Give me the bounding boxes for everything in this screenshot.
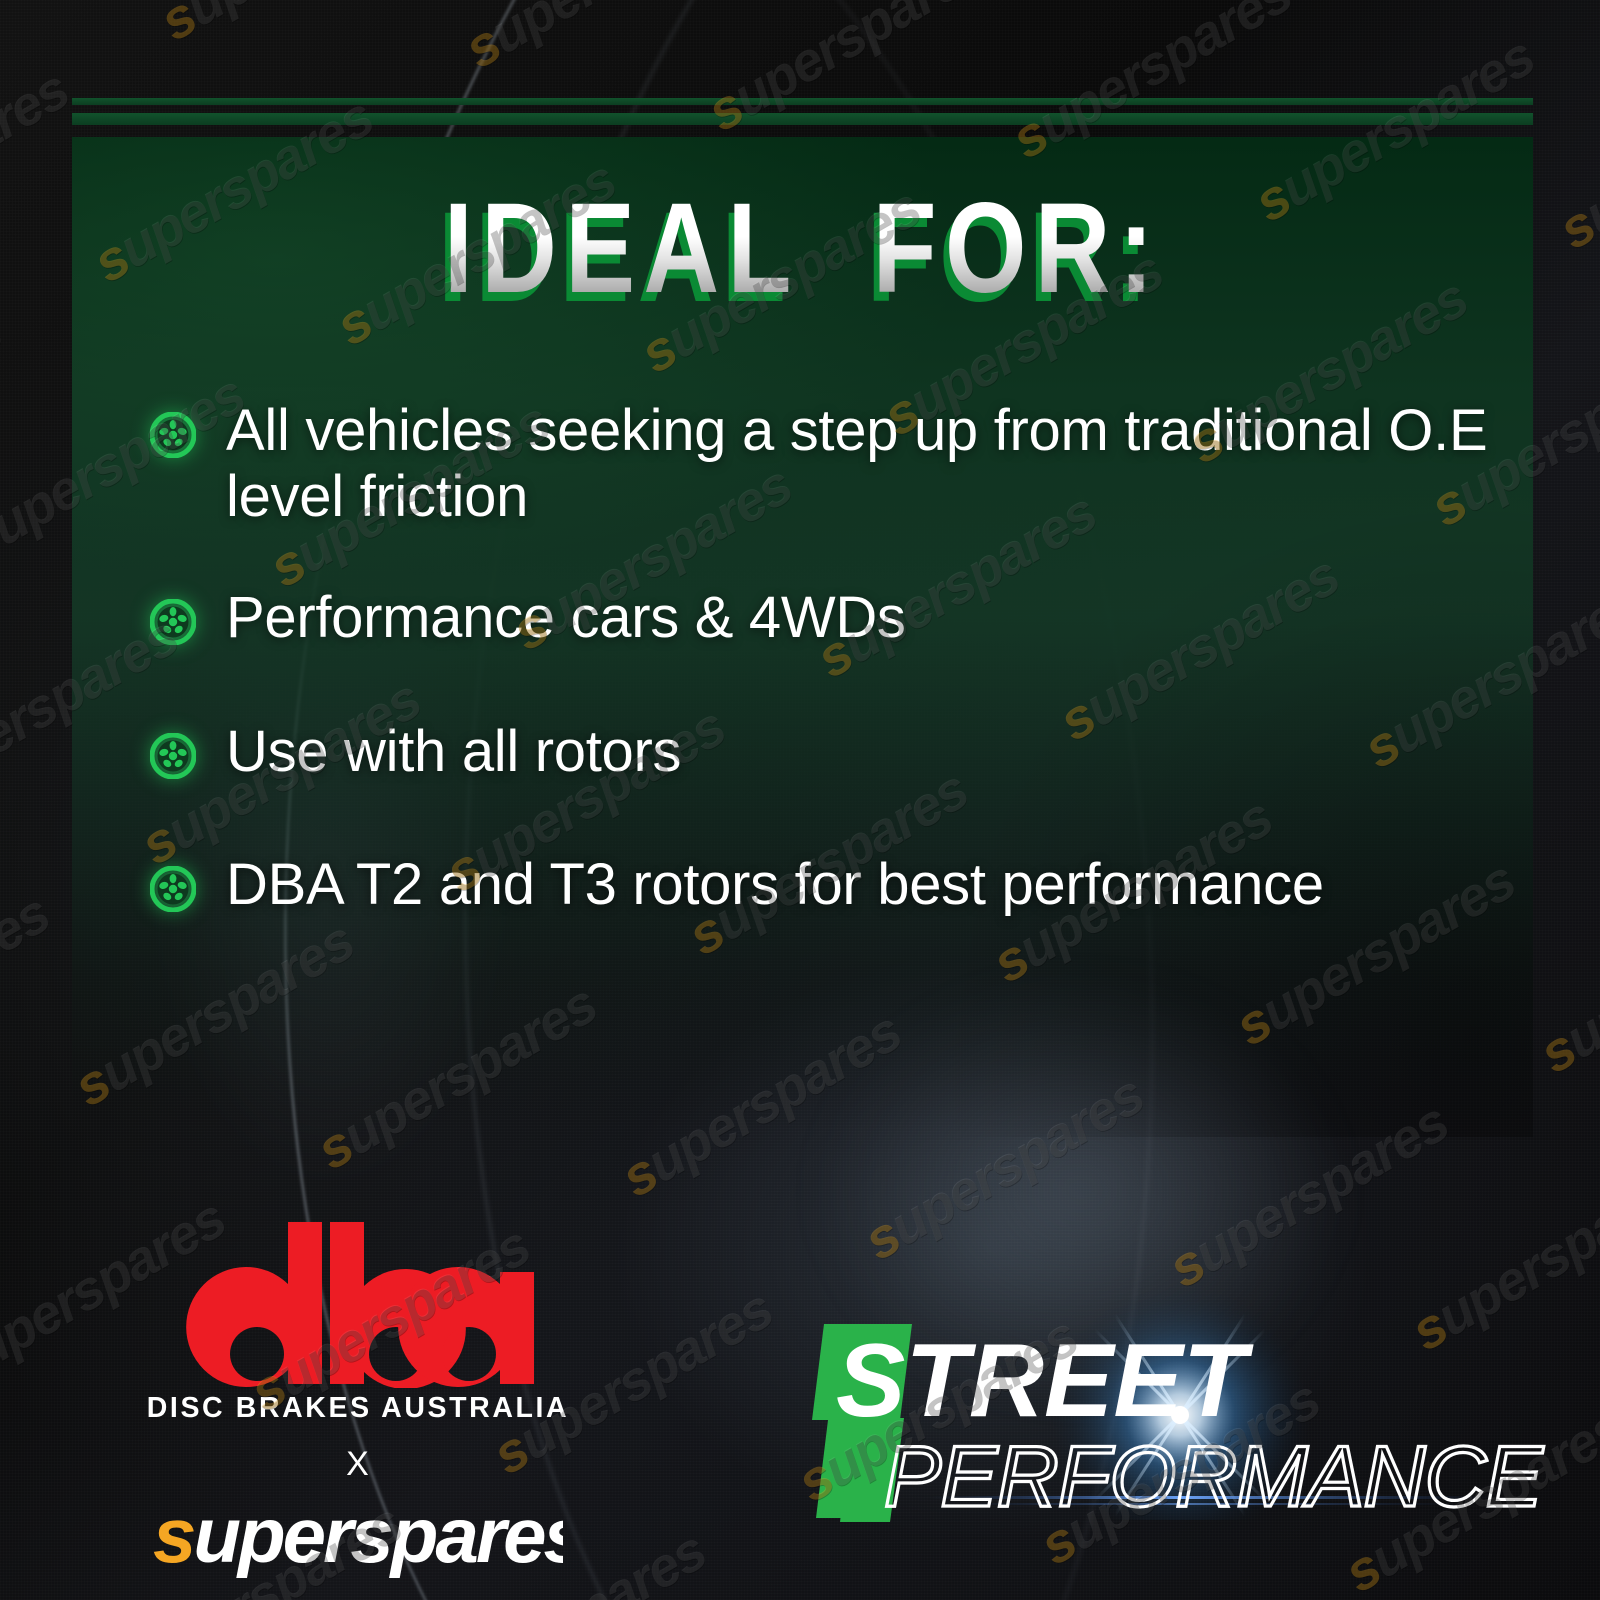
svg-text:PERFORMANCE: PERFORMANCE bbox=[884, 1429, 1545, 1525]
rotor-icon bbox=[150, 866, 196, 912]
list-item-label: DBA T2 and T3 rotors for best performanc… bbox=[226, 852, 1324, 918]
street-performance-logo-block: STREET PERFORMANCE bbox=[780, 1300, 1570, 1550]
rotor-icon bbox=[150, 733, 196, 779]
list-item-label: Use with all rotors bbox=[226, 719, 681, 785]
list-item-label: Performance cars & 4WDs bbox=[226, 585, 906, 651]
rotor-icon bbox=[150, 599, 196, 645]
header-rule-bottom bbox=[72, 113, 1533, 125]
page-title: IDEAL FOR: IDEAL FOR: bbox=[443, 185, 1161, 313]
dba-wordmark bbox=[138, 1218, 578, 1388]
rotor-icon bbox=[150, 412, 196, 458]
list-item: DBA T2 and T3 rotors for best performanc… bbox=[150, 852, 1550, 918]
header-rule-top bbox=[72, 98, 1533, 105]
promo-banner: IDEAL FOR: IDEAL FOR: bbox=[0, 0, 1600, 1600]
svg-text:STREET: STREET bbox=[836, 1323, 1254, 1439]
partnership-separator: X bbox=[138, 1445, 578, 1484]
list-item-label: All vehicles seeking a step up from trad… bbox=[226, 398, 1550, 529]
feature-list: All vehicles seeking a step up from trad… bbox=[150, 398, 1550, 976]
headline-container: IDEAL FOR: IDEAL FOR: bbox=[72, 185, 1533, 313]
dba-logo-block: DISC BRAKES AUSTRALIA X superspares bbox=[138, 1218, 578, 1582]
list-item: All vehicles seeking a step up from trad… bbox=[150, 398, 1550, 529]
page-title-face: IDEAL FOR: bbox=[443, 177, 1161, 320]
list-item: Performance cars & 4WDs bbox=[150, 585, 1550, 651]
svg-text:superspares: superspares bbox=[153, 1496, 563, 1579]
street-performance-mark: STREET PERFORMANCE bbox=[780, 1300, 1570, 1550]
dba-tagline: DISC BRAKES AUSTRALIA bbox=[138, 1392, 578, 1425]
superspares-logo: superspares bbox=[138, 1496, 578, 1582]
list-item: Use with all rotors bbox=[150, 719, 1550, 785]
